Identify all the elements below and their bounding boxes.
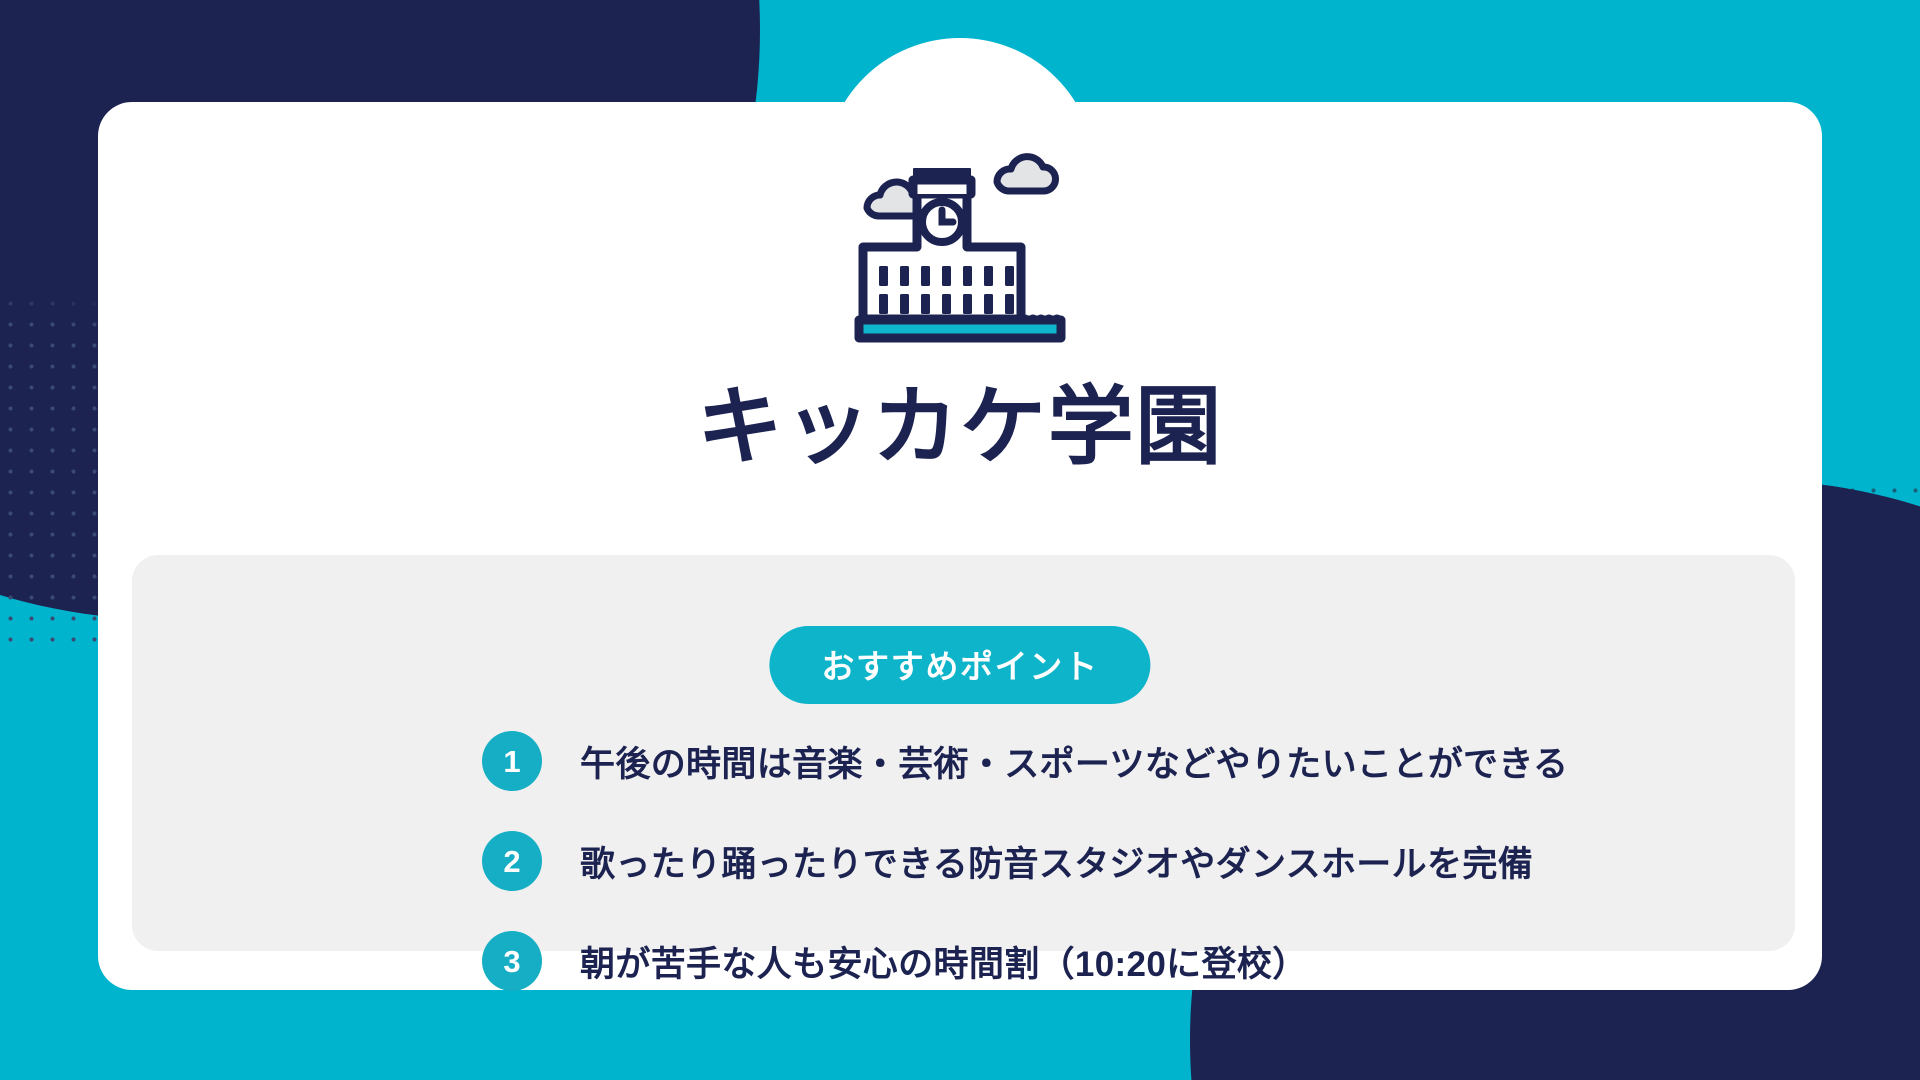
point-number-badge: 3 bbox=[482, 931, 542, 991]
status-badge: おすすめポイント bbox=[769, 626, 1150, 704]
points-list: 1 午後の時間は音楽・芸術・スポーツなどやりたいことができる 2 歌ったり踊った… bbox=[482, 730, 1782, 992]
school-building-icon bbox=[845, 144, 1075, 344]
building-base bbox=[859, 317, 1061, 338]
point-number-badge: 2 bbox=[482, 831, 542, 891]
list-item: 3 朝が苦手な人も安心の時間割（10:20に登校） bbox=[482, 930, 1782, 992]
list-item: 1 午後の時間は音楽・芸術・スポーツなどやりたいことができる bbox=[482, 730, 1782, 792]
slide-canvas: キッカケ学園 おすすめポイント 1 午後の時間は音楽・芸術・スポーツなどやりたい… bbox=[0, 0, 1920, 1080]
content-card: キッカケ学園 おすすめポイント 1 午後の時間は音楽・芸術・スポーツなどやりたい… bbox=[98, 102, 1822, 990]
page-title: キッカケ学園 bbox=[98, 384, 1822, 470]
clock-icon bbox=[922, 202, 962, 242]
point-number-badge: 1 bbox=[482, 731, 542, 791]
point-text: 歌ったり踊ったりできる防音スタジオやダンスホールを完備 bbox=[580, 836, 1533, 887]
point-text: 朝が苦手な人も安心の時間割（10:20に登校） bbox=[580, 936, 1308, 987]
point-text: 午後の時間は音楽・芸術・スポーツなどやりたいことができる bbox=[580, 736, 1568, 787]
cloud-icon bbox=[997, 157, 1056, 191]
list-item: 2 歌ったり踊ったりできる防音スタジオやダンスホールを完備 bbox=[482, 830, 1782, 892]
